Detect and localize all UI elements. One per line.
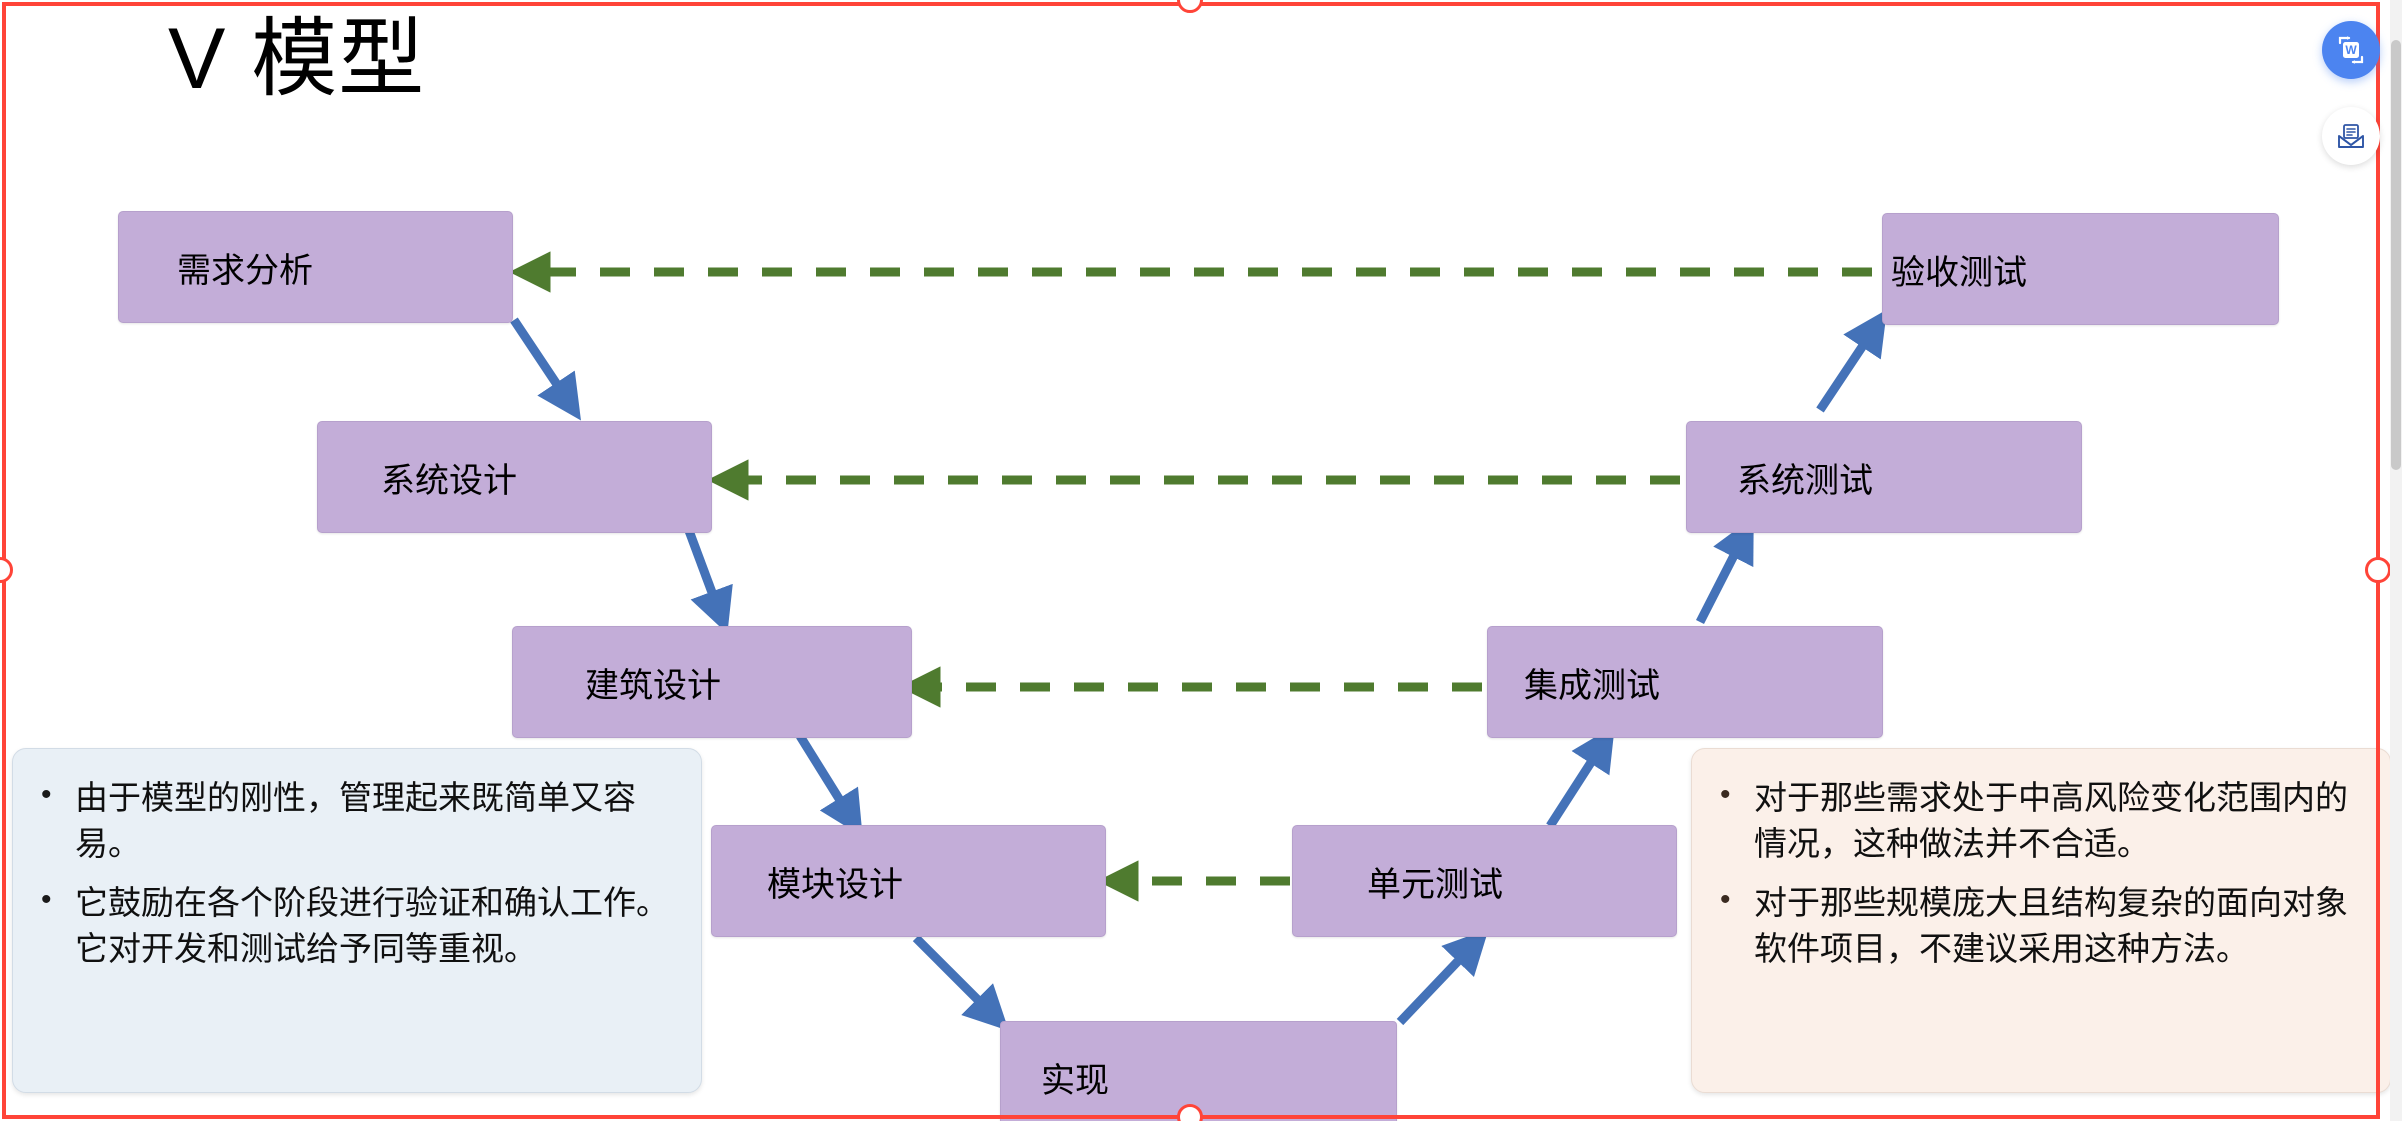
node-requirements[interactable]: 需求分析 bbox=[118, 211, 513, 323]
node-system-test[interactable]: 系统测试 bbox=[1686, 421, 2082, 533]
svg-text:W: W bbox=[2345, 43, 2357, 57]
word-convert-icon: W bbox=[2334, 33, 2368, 67]
vertical-scrollbar[interactable] bbox=[2390, 0, 2402, 1121]
arrow-module-design-to-implementation bbox=[916, 938, 1000, 1022]
envelope-icon bbox=[2335, 120, 2367, 152]
resize-handle-right[interactable] bbox=[2365, 557, 2391, 583]
note-text: 由于模型的刚性，管理起来既简单又容易。 bbox=[75, 775, 673, 866]
note-text: 对于那些需求处于中高风险变化范围内的情况，这种做法并不合适。 bbox=[1754, 775, 2362, 866]
node-implementation[interactable]: 实现 bbox=[1000, 1021, 1397, 1121]
arrow-system-design-to-architecture bbox=[688, 528, 723, 622]
list-item: • 对于那些需求处于中高风险变化范围内的情况，这种做法并不合适。 bbox=[1714, 775, 2362, 866]
node-unit-test[interactable]: 单元测试 bbox=[1292, 825, 1677, 937]
node-label: 系统测试 bbox=[1737, 453, 1873, 502]
feedback-button[interactable] bbox=[2322, 107, 2380, 165]
advantages-note: • 由于模型的刚性，管理起来既简单又容易。 • 它鼓励在各个阶段进行验证和确认工… bbox=[12, 748, 702, 1093]
node-label: 集成测试 bbox=[1524, 658, 1660, 707]
list-item: • 由于模型的刚性，管理起来既简单又容易。 bbox=[35, 775, 673, 866]
arrow-implementation-to-unit-test bbox=[1400, 938, 1480, 1022]
limitations-note: • 对于那些需求处于中高风险变化范围内的情况，这种做法并不合适。 • 对于那些规… bbox=[1691, 748, 2391, 1093]
node-label: 需求分析 bbox=[177, 243, 313, 292]
bullet-icon: • bbox=[35, 775, 75, 816]
slide-canvas: V 模型 bbox=[0, 0, 2402, 1121]
bullet-icon: • bbox=[35, 880, 75, 921]
note-text: 它鼓励在各个阶段进行验证和确认工作。它对开发和测试给予同等重视。 bbox=[75, 880, 673, 971]
page-title: V 模型 bbox=[168, 12, 425, 107]
node-integration-test[interactable]: 集成测试 bbox=[1487, 626, 1883, 738]
node-label: 验收测试 bbox=[1891, 245, 2027, 294]
list-item: • 对于那些规模庞大且结构复杂的面向对象软件项目，不建议采用这种方法。 bbox=[1714, 880, 2362, 971]
arrow-unit-test-to-integration-test bbox=[1550, 736, 1608, 826]
arrow-integration-to-system-test bbox=[1700, 528, 1748, 622]
resize-handle-left[interactable] bbox=[0, 557, 13, 583]
arrow-architecture-to-module-design bbox=[800, 736, 856, 826]
resize-handle-top[interactable] bbox=[1177, 0, 1203, 13]
arrow-requirements-to-system-design bbox=[514, 320, 574, 410]
note-text: 对于那些规模庞大且结构复杂的面向对象软件项目，不建议采用这种方法。 bbox=[1754, 880, 2362, 971]
node-system-design[interactable]: 系统设计 bbox=[317, 421, 712, 533]
node-module-design[interactable]: 模块设计 bbox=[711, 825, 1106, 937]
scrollbar-thumb[interactable] bbox=[2391, 40, 2401, 470]
node-label: 建筑设计 bbox=[585, 658, 721, 707]
convert-to-word-button[interactable]: W bbox=[2322, 21, 2380, 79]
arrow-system-test-to-acceptance-test bbox=[1820, 320, 1880, 410]
node-label: 模块设计 bbox=[767, 857, 903, 906]
bullet-icon: • bbox=[1714, 775, 1754, 816]
node-label: 单元测试 bbox=[1367, 857, 1503, 906]
node-label: 实现 bbox=[1041, 1053, 1109, 1102]
bullet-icon: • bbox=[1714, 880, 1754, 921]
node-architecture-design[interactable]: 建筑设计 bbox=[512, 626, 912, 738]
list-item: • 它鼓励在各个阶段进行验证和确认工作。它对开发和测试给予同等重视。 bbox=[35, 880, 673, 971]
node-label: 系统设计 bbox=[381, 453, 517, 502]
node-acceptance-test[interactable]: 验收测试 bbox=[1882, 213, 2279, 325]
